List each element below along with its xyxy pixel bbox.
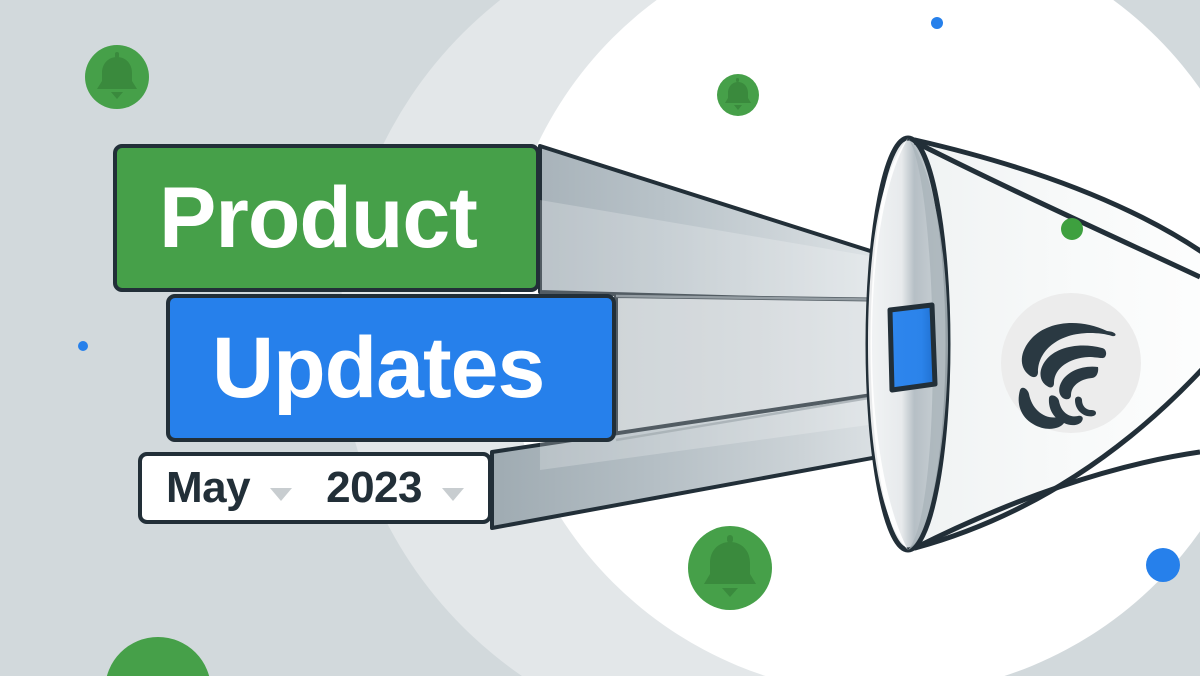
product-title-box: Product [113,144,540,292]
bell-badge-top-mid [717,74,759,116]
date-selector-box[interactable]: May 2023 [138,452,492,524]
bell-badge-top-left [85,45,149,109]
green-circle-bottom-left [105,637,211,676]
product-updates-banner: Product Updates May 2023 [0,0,1200,676]
month-dropdown[interactable]: May [166,466,292,510]
blue-dot-small-left [78,341,88,351]
megaphone-blue-button [890,305,935,390]
blue-dot-large-right [1146,548,1180,582]
bell-badge-bottom-mid [688,526,772,610]
blue-dot-small-top [931,17,943,29]
year-value: 2023 [326,466,422,510]
caret-down-icon[interactable] [442,488,464,501]
green-dot-on-megaphone [1061,218,1083,240]
month-value: May [166,466,250,510]
updates-title-box: Updates [166,294,616,442]
title-line-1: Product [159,175,477,261]
year-dropdown[interactable]: 2023 [326,466,464,510]
caret-down-icon[interactable] [270,488,292,501]
title-line-2: Updates [212,325,544,411]
